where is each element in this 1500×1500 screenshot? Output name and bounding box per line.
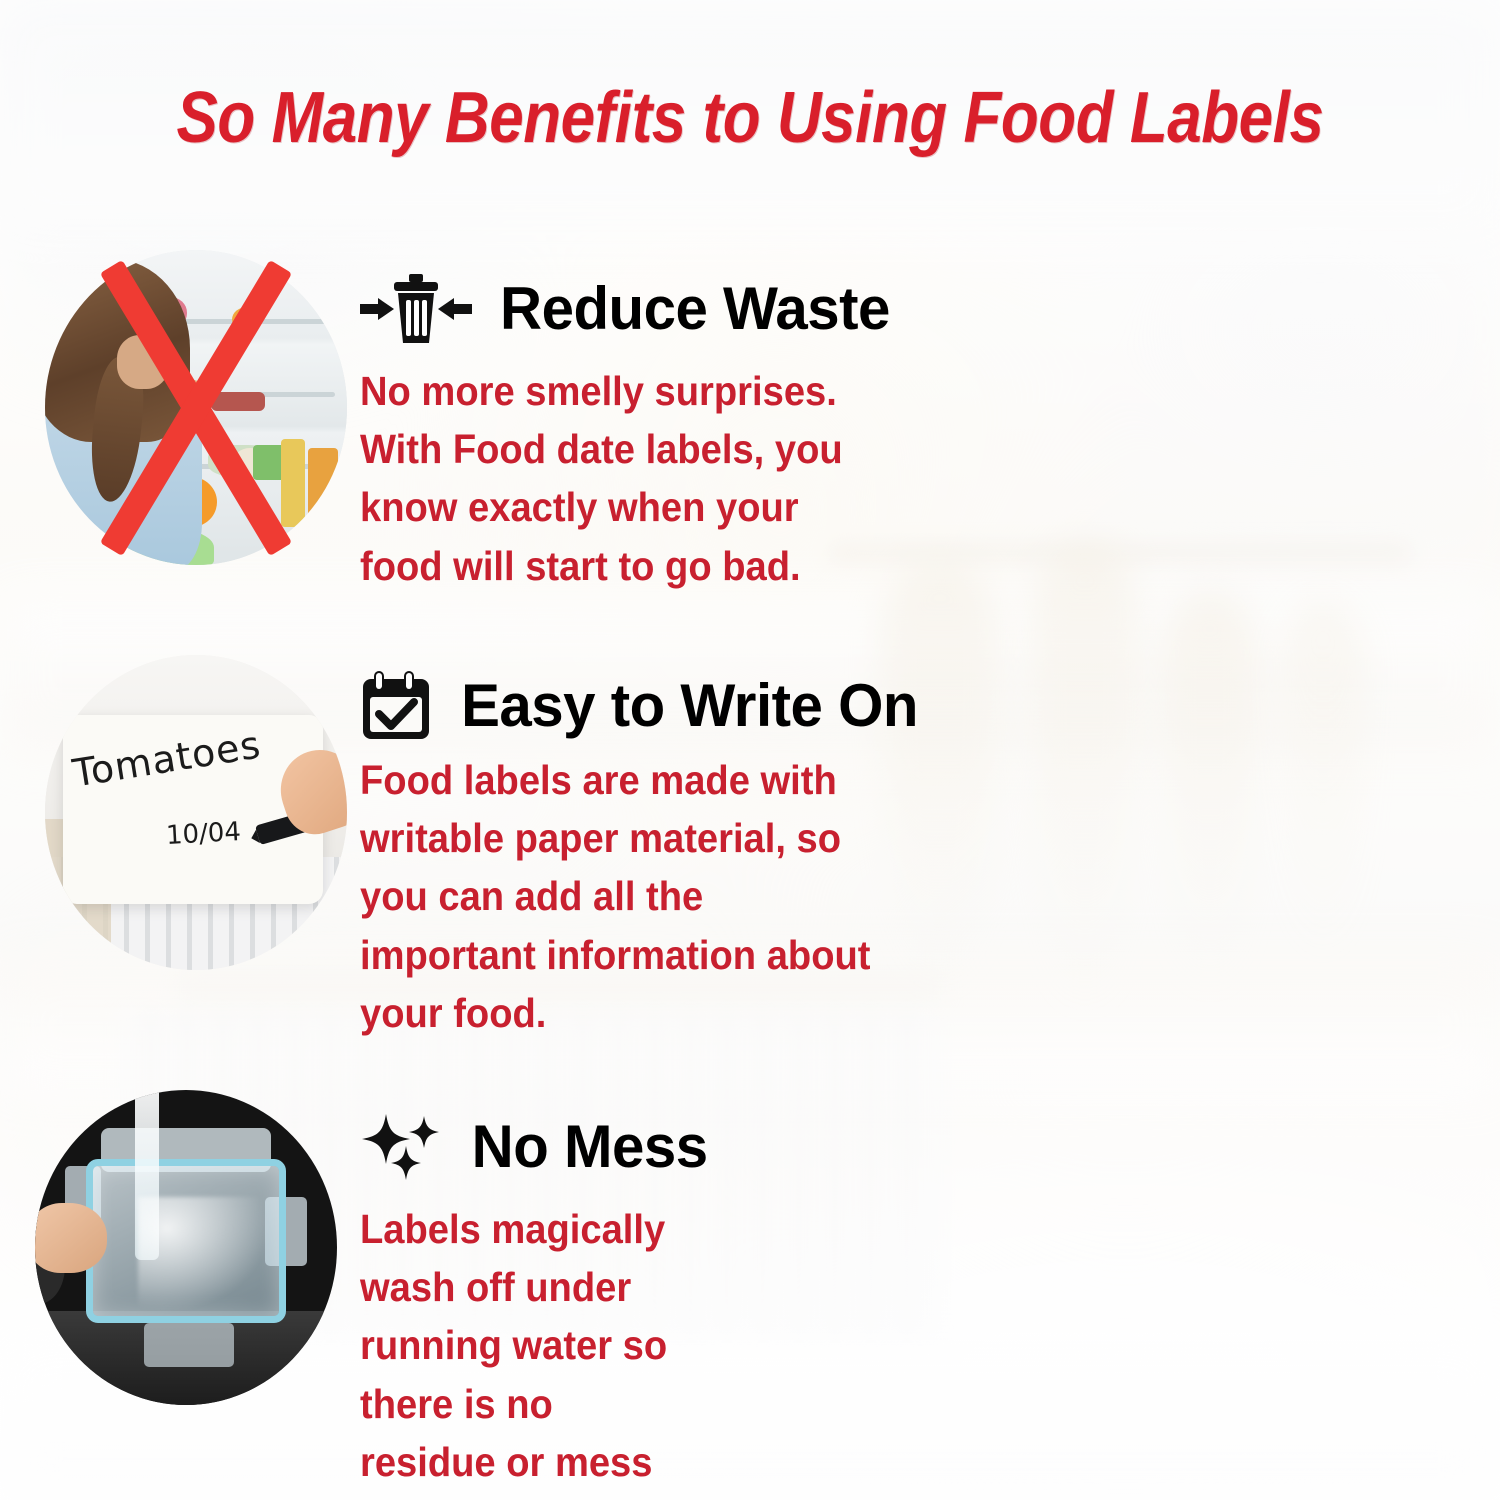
benefit-heading-row: Easy to Write On — [360, 669, 925, 743]
fridge-jar — [308, 448, 338, 524]
water-splash — [138, 1197, 283, 1323]
benefit-body-text: No more smelly surprises. With Food date… — [360, 362, 858, 595]
calendar-check-icon — [360, 669, 432, 743]
page-title: So Many Benefits to Using Food Labels — [105, 82, 1395, 154]
fridge-bottle — [281, 439, 305, 527]
woman-pinching-nose-at-open-fridge-photo — [45, 250, 347, 565]
fridge-meat — [211, 392, 265, 411]
benefit-body-text: Food labels are made with writable paper… — [360, 751, 885, 1042]
benefit-heading-row: Reduce Waste — [360, 272, 896, 346]
benefit-photo-easy-to-write-on: Tomatoes 10/04 — [45, 655, 347, 970]
benefit-heading-label: Reduce Waste — [500, 278, 890, 339]
sparkles-icon — [360, 1110, 446, 1184]
benefit-photo-reduce-waste — [45, 250, 347, 565]
benefit-heading-label: Easy to Write On — [461, 675, 918, 736]
benefit-text-no-mess: No Mess Labels magically wash off under … — [360, 1110, 711, 1500]
container-tab-bottom — [144, 1323, 235, 1367]
benefit-heading-label: No Mess — [472, 1116, 708, 1177]
benefit-text-easy-to-write-on: Easy to Write On Food labels are made wi… — [360, 669, 925, 1042]
fridge-orange-top — [232, 307, 262, 332]
benefit-body-text: Labels magically wash off under running … — [360, 1200, 687, 1500]
handwritten-food-label-photo: Tomatoes 10/04 — [45, 655, 347, 970]
container-rinsed-under-running-water-photo — [35, 1090, 337, 1405]
trash-can-reduce-icon — [360, 272, 472, 346]
benefit-photo-no-mess — [35, 1090, 337, 1405]
label-date-text: 10/04 — [165, 817, 241, 851]
woman-hand-pinching-nose — [117, 335, 168, 389]
hand-holding-container — [35, 1203, 107, 1272]
benefit-heading-row: No Mess — [360, 1110, 711, 1184]
benefit-text-reduce-waste: Reduce Waste No more smelly surprises. W… — [360, 272, 896, 595]
